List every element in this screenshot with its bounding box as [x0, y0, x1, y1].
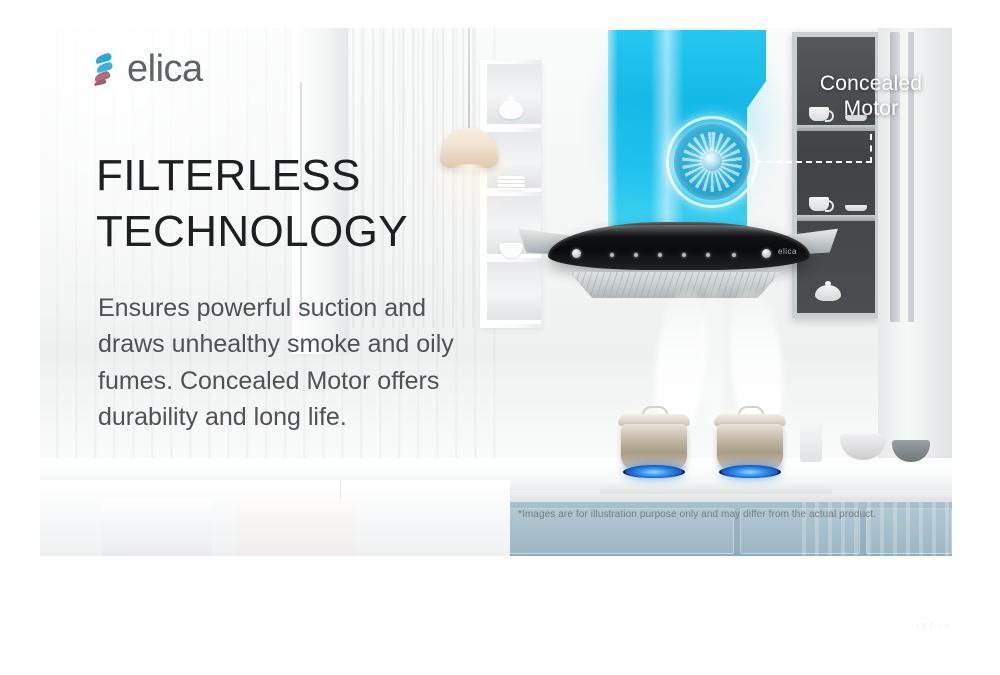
pendant-lamp-cord	[468, 28, 470, 132]
body-copy: Ensures powerful suction and draws unhea…	[98, 290, 498, 435]
concealed-motor-callout: Concealed Motor	[796, 72, 946, 122]
shelf-board	[797, 125, 875, 131]
concealed-motor-icon	[674, 124, 750, 200]
burner-flame	[721, 465, 779, 478]
airflow-stream	[700, 286, 726, 426]
stool-object	[102, 498, 212, 556]
saucer-object	[845, 205, 867, 211]
callout-leader-line-vertical	[870, 134, 872, 163]
elica-swirl-icon	[88, 50, 118, 88]
product-advertisement-image: Concealed Motor elica	[40, 28, 952, 556]
duct-highlight-edge	[608, 30, 618, 226]
hood-glass-panel: elica	[548, 222, 810, 270]
hood-control-indicator	[610, 253, 614, 257]
hood-power-button	[762, 249, 771, 258]
teapot-object	[499, 100, 523, 119]
stool-object	[236, 498, 356, 556]
elica-wordmark: elica	[127, 50, 203, 88]
disclaimer-text: *Images are for illustration purpose onl…	[518, 509, 938, 520]
hood-control-indicator	[634, 253, 638, 257]
page-title: FILTERLESS TECHNOLOGY	[96, 148, 408, 261]
cooktop-surface	[600, 480, 832, 494]
screenshot-canvas: Concealed Motor elica	[0, 0, 1000, 675]
burner-flame	[625, 465, 683, 478]
elica-logo: elica	[88, 50, 203, 88]
hood-control-indicator	[706, 253, 710, 257]
olx-watermark-sub: INDIA	[916, 622, 952, 631]
hood-control-indicator	[732, 253, 736, 257]
hood-control-indicator	[658, 253, 662, 257]
hood-control-button	[572, 249, 581, 258]
callout-line-2: Motor	[796, 97, 946, 122]
callout-leader-line-horizontal	[756, 161, 872, 163]
olx-watermark-icon	[842, 570, 964, 652]
cooking-pot	[717, 424, 783, 470]
callout-line-1: Concealed	[796, 72, 946, 97]
cup-object	[809, 197, 829, 211]
hood-control-indicator	[682, 253, 686, 257]
headline-line-1: FILTERLESS	[96, 148, 408, 204]
hood-brand-badge: elica	[778, 247, 797, 256]
duct-sheen	[650, 30, 684, 226]
headline-line-2: TECHNOLOGY	[96, 204, 408, 260]
jar-object	[800, 420, 822, 462]
cooking-pot	[621, 424, 687, 470]
